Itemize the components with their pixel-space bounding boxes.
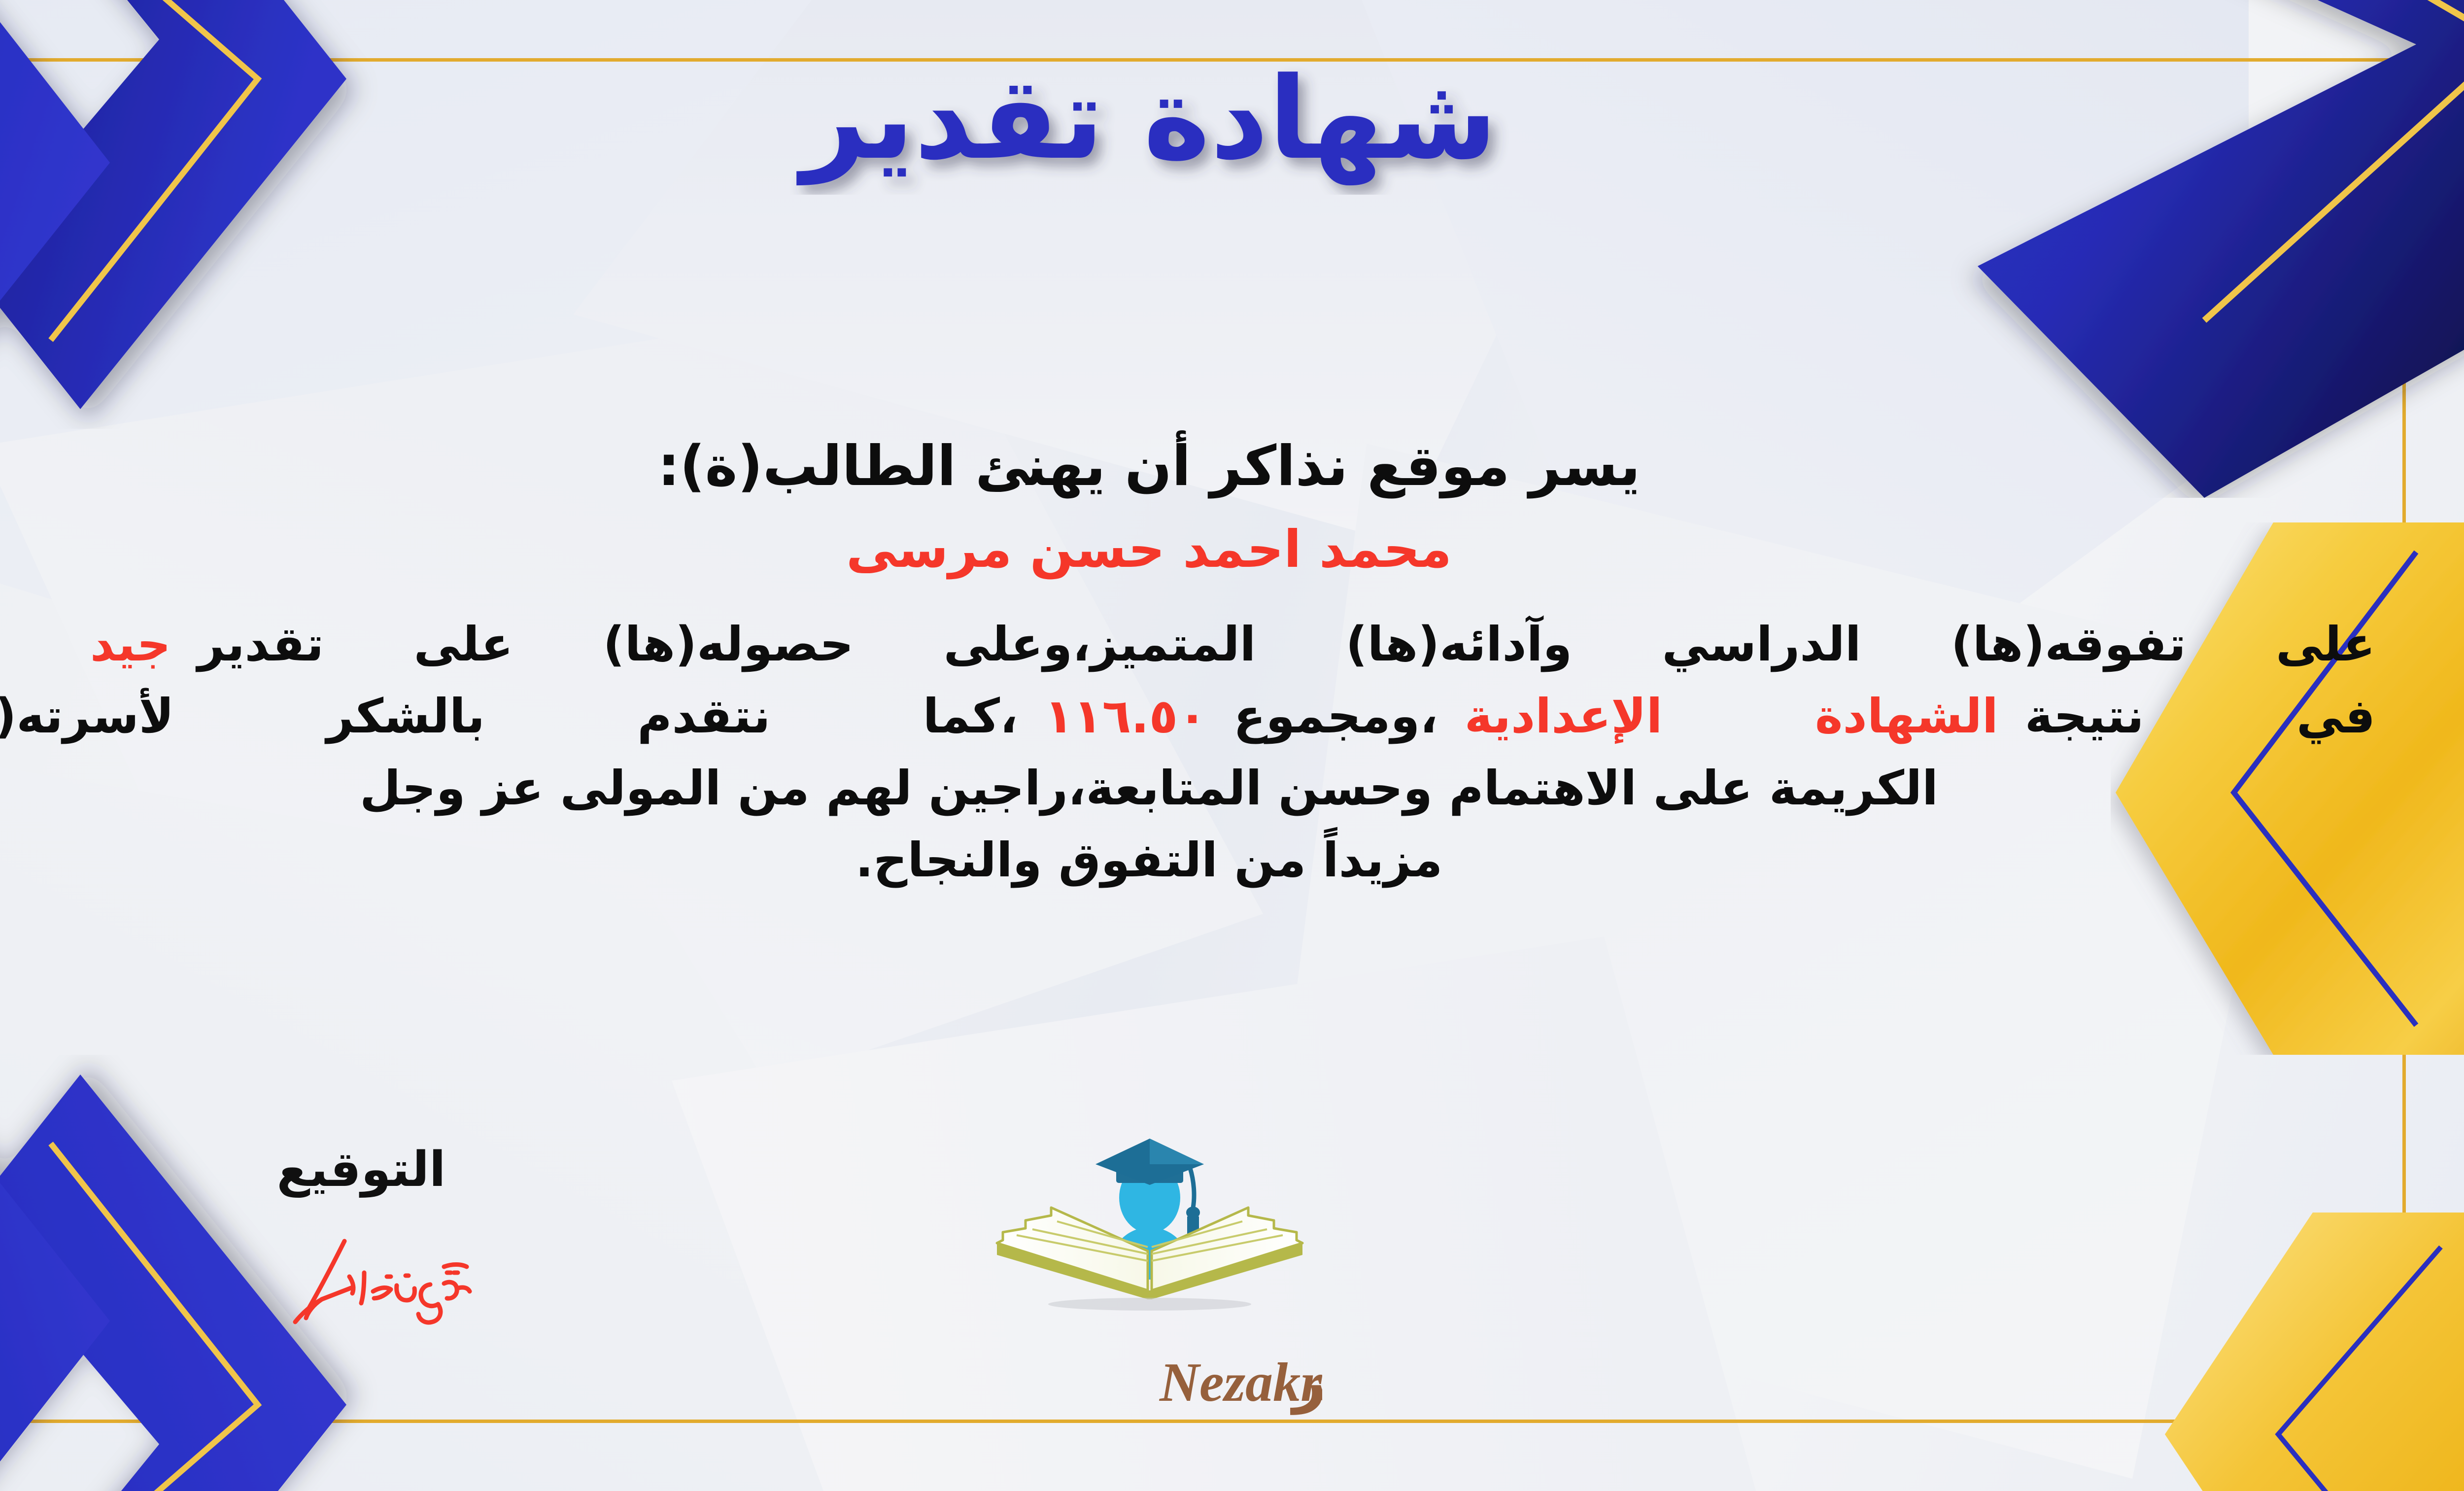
line1-part1: على تفوقه(ها) الدراسي وآدائه(ها) المتميز… <box>198 617 2375 672</box>
certificate-page: شهادة تقدير يسر موقع نذاكر أن يهنئ الطال… <box>0 0 2464 1491</box>
line2-part3: ،كما نتقدم بالشكر لأسرته(ها) <box>0 689 1018 744</box>
grade-value: جيد جداً <box>0 617 171 672</box>
total-score: ١١٦.٥٠ <box>1044 689 1206 744</box>
certificate-title-calligraphy: شهادة تقدير <box>730 52 1568 195</box>
logo-wordmark: نذاكر Nezakr <box>967 1346 1332 1422</box>
certificate-title-area: شهادة تقدير <box>0 52 2464 197</box>
corner-ornament-top-left-icon <box>0 0 420 429</box>
intro-line: يسر موقع نذاكر أن يهنئ الطالب(ة): <box>0 434 2375 499</box>
paragraph-line-2: في نتيجةالشهادة الإعدادية،ومجموع١١٦.٥٠،ك… <box>0 681 2375 753</box>
gold-chevron-bottom-right-icon <box>2165 1213 2464 1491</box>
student-name: محمد احمد حسن مرسى <box>0 519 2375 580</box>
line2-part1: في نتيجة <box>2025 689 2375 744</box>
paragraph-line-3: الكريمة على الاهتمام وحسن المتابعة،راجين… <box>0 753 2375 825</box>
logo-latin-text: Nezakr <box>1159 1352 1322 1413</box>
line2-part2: ،ومجموع <box>1233 689 1438 744</box>
corner-ornament-top-right-icon <box>1830 0 2464 498</box>
site-logo-block: نذاكر Nezakr <box>967 1134 1332 1422</box>
title-glyphs: شهادة تقدير <box>796 53 1497 185</box>
exam-name: الشهادة الإعدادية <box>1465 689 1998 744</box>
handwritten-signature-icon <box>248 1225 475 1329</box>
signature-mark <box>208 1225 514 1331</box>
signature-block: التوقيع <box>208 1144 514 1331</box>
paragraph-line-4: مزيداً من التفوق والنجاح. <box>0 825 2375 897</box>
certificate-paragraph: على تفوقه(ها) الدراسي وآدائه(ها) المتميز… <box>0 609 2375 897</box>
graduate-book-logo-icon <box>967 1134 1332 1346</box>
signature-label: التوقيع <box>208 1144 514 1197</box>
certificate-body: يسر موقع نذاكر أن يهنئ الطالب(ة): محمد ا… <box>0 434 2375 897</box>
paragraph-line-1: على تفوقه(ها) الدراسي وآدائه(ها) المتميز… <box>0 609 2375 681</box>
logo-wordmark-svg: نذاكر Nezakr <box>977 1346 1322 1420</box>
